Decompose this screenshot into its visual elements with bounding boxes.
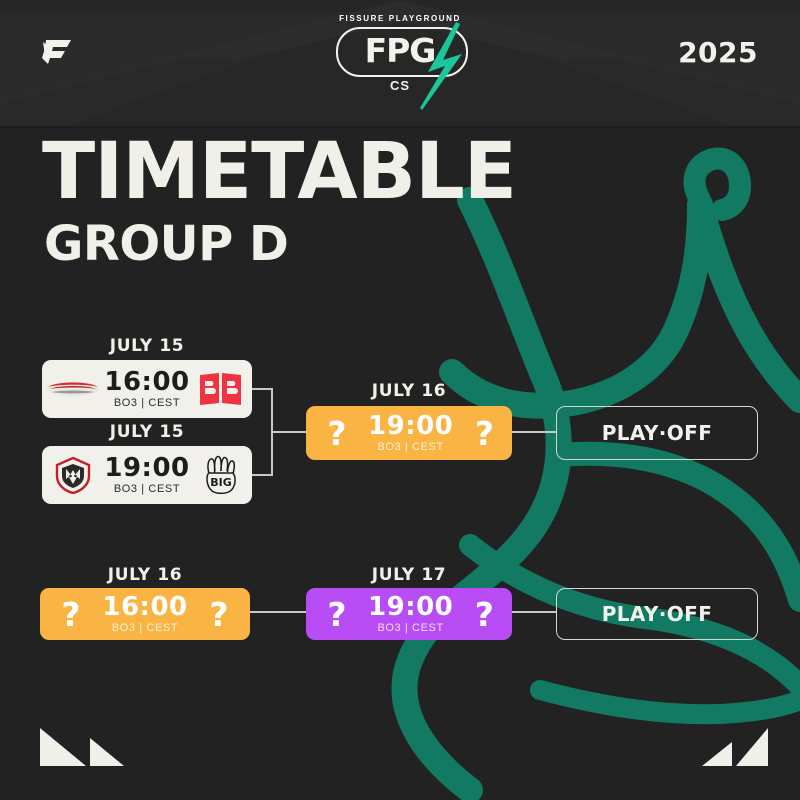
match-date-lower-semi: JULY 16	[40, 565, 250, 585]
timetable-graphic: 2025 FISSURE PLAYGROUND FPG CS TIMETABLE…	[0, 0, 800, 800]
match-meta: BO3 | CEST	[377, 442, 443, 453]
team-slot-left: ?	[306, 588, 368, 640]
match-center: 19:00 BO3 | CEST	[104, 455, 190, 495]
match-time: 19:00	[368, 594, 453, 620]
playoff-button-lower[interactable]: PLAY·OFF	[556, 588, 758, 640]
match-card-upper-semi-2[interactable]: 19:00 BO3 | CEST BIG	[42, 446, 252, 504]
match-meta: BO3 | CEST	[112, 623, 178, 634]
betboom-bb-logo-icon	[198, 372, 244, 406]
team-slot-right	[190, 360, 252, 418]
team-slot-right: ?	[453, 588, 515, 640]
match-center: 19:00 BO3 | CEST	[368, 594, 453, 634]
question-mark-icon: ?	[327, 598, 346, 631]
match-card-lower-final[interactable]: ? 19:00 BO3 | CEST ?	[306, 588, 512, 640]
match-time: 19:00	[104, 455, 189, 481]
match-card-upper-semi-1[interactable]: 16:00 BO3 | CEST	[42, 360, 252, 418]
svg-text:BIG: BIG	[210, 476, 232, 489]
team-slot-left: ?	[306, 406, 368, 460]
match-date-lower-final: JULY 17	[306, 565, 512, 585]
match-card-lower-semi[interactable]: ? 16:00 BO3 | CEST ?	[40, 588, 250, 640]
match-date-upper-final: JULY 16	[306, 381, 512, 401]
match-center: 16:00 BO3 | CEST	[104, 369, 190, 409]
match-time: 16:00	[102, 594, 187, 620]
bracket: JULY 15 16:00 BO3 | CEST	[0, 0, 800, 800]
virtuspro-logo-icon	[46, 378, 100, 400]
match-meta: BO3 | CEST	[114, 398, 180, 409]
team-slot-left	[42, 360, 104, 418]
team-slot-right: ?	[188, 588, 250, 640]
question-mark-icon: ?	[327, 417, 346, 450]
nemiga-wolf-shield-icon	[54, 456, 92, 494]
match-meta: BO3 | CEST	[377, 623, 443, 634]
match-center: 19:00 BO3 | CEST	[368, 413, 453, 453]
team-slot-left	[42, 446, 104, 504]
question-mark-icon: ?	[209, 598, 228, 631]
match-time: 19:00	[368, 413, 453, 439]
match-card-upper-final[interactable]: ? 19:00 BO3 | CEST ?	[306, 406, 512, 460]
question-mark-icon: ?	[475, 417, 494, 450]
match-meta: BO3 | CEST	[114, 484, 180, 495]
playoff-button-upper[interactable]: PLAY·OFF	[556, 406, 758, 460]
match-time: 16:00	[104, 369, 189, 395]
team-slot-left: ?	[40, 588, 102, 640]
match-center: 16:00 BO3 | CEST	[102, 594, 188, 634]
team-slot-right: ?	[453, 406, 515, 460]
team-slot-right: BIG	[190, 446, 252, 504]
match-date-upper-semi-1: JULY 15	[42, 336, 252, 356]
double-triangle-left-icon	[38, 722, 128, 768]
question-mark-icon: ?	[475, 598, 494, 631]
match-date-upper-semi-2: JULY 15	[42, 422, 252, 442]
double-triangle-right-icon	[700, 722, 772, 768]
question-mark-icon: ?	[61, 598, 80, 631]
big-claw-logo-icon: BIG	[202, 455, 240, 495]
